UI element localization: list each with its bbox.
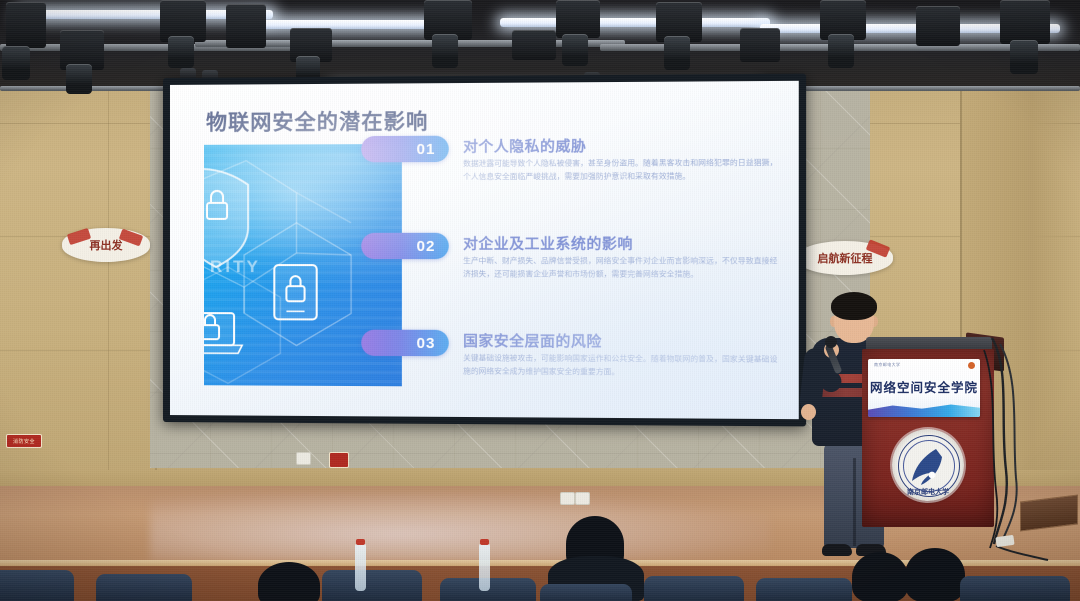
presenter-shoe bbox=[822, 544, 852, 556]
audience-seat bbox=[644, 576, 744, 601]
wall-banner-right: 启航新征程 bbox=[797, 241, 893, 275]
tablet-lock-icon bbox=[274, 265, 316, 319]
microphone-head bbox=[825, 336, 837, 348]
shield-lock-icon bbox=[204, 169, 248, 267]
audience-seat bbox=[0, 570, 74, 601]
slide-item: 03 国家安全层面的风险 关键基础设施被攻击，可能影响国家运作和公共安全。随着物… bbox=[321, 329, 795, 417]
audience-member bbox=[852, 552, 908, 601]
audience-member bbox=[905, 548, 965, 601]
wall-outlet bbox=[575, 492, 590, 505]
stage-spotlight bbox=[664, 36, 690, 70]
slide-item-body: 关键基础设施被攻击，可能影响国家运作和公共安全。随着物联网的普及，国家关键基础设… bbox=[463, 352, 779, 379]
wall-banner-left: 再出发 bbox=[62, 228, 150, 262]
lecture-hall-photo: 再出发 启航新征程 消防安全 物联网安全的潜在影响 bbox=[0, 0, 1080, 601]
slide-item-badge: 03 bbox=[361, 330, 449, 357]
slide-item: 01 对个人隐私的威胁 数据泄露可能导致个人隐私被侵害，甚至身份盗用。随着黑客攻… bbox=[321, 134, 795, 221]
wall-banner-left-text: 再出发 bbox=[90, 237, 123, 253]
stage-spotlight bbox=[6, 2, 46, 48]
water-bottle bbox=[479, 543, 490, 591]
water-bottle bbox=[355, 543, 366, 591]
audience-seat bbox=[756, 578, 852, 601]
svg-text:南京邮电大学: 南京邮电大学 bbox=[907, 487, 949, 496]
stage-spotlight bbox=[916, 6, 960, 46]
stage-spotlight bbox=[828, 34, 854, 68]
water-bottle-cap bbox=[356, 539, 365, 545]
stage-spotlight bbox=[168, 36, 194, 68]
water-bottle-cap bbox=[480, 539, 489, 545]
slide-item-heading: 对企业及工业系统的影响 bbox=[463, 233, 633, 254]
stage-spotlight bbox=[432, 34, 458, 68]
wall-outlet bbox=[560, 492, 575, 505]
slide-item-heading: 对个人隐私的威胁 bbox=[463, 135, 586, 157]
fire-safety-sign: 消防安全 bbox=[6, 434, 42, 448]
stage-spotlight bbox=[512, 30, 556, 60]
audience-seat bbox=[96, 574, 192, 601]
stage-spotlight bbox=[66, 64, 92, 94]
stage-spotlight bbox=[562, 34, 588, 66]
slide-item-body: 数据泄露可能导致个人隐私被侵害，甚至身份盗用。随着黑客攻击和网络犯罪的日益猖獗，… bbox=[463, 157, 779, 183]
ceiling-strip-light bbox=[246, 20, 436, 29]
stage-spotlight bbox=[2, 46, 30, 80]
stage-floor-reflection bbox=[150, 492, 770, 562]
audience-seat bbox=[960, 576, 1070, 601]
projection-screen: 物联网安全的潜在影响 bbox=[163, 74, 806, 427]
podium-sign-university: 南京邮电大学 bbox=[874, 362, 900, 368]
stage-spotlight bbox=[556, 0, 600, 38]
fire-safety-sign bbox=[329, 452, 349, 468]
audience-seat bbox=[540, 584, 632, 601]
audience-seat bbox=[322, 570, 422, 601]
slide-item-heading: 国家安全层面的风险 bbox=[463, 330, 602, 352]
stage-spotlight bbox=[226, 4, 266, 48]
slide-item-body: 生产中断、财产损失、品牌信誉受损，网络安全事件对企业而言影响深远，不仅导致直接经… bbox=[463, 255, 779, 281]
presenter-hand bbox=[801, 404, 816, 420]
slide-title: 物联网安全的潜在影响 bbox=[206, 105, 428, 136]
ceiling-strip-light bbox=[500, 18, 770, 27]
slide-item-badge: 02 bbox=[361, 233, 449, 259]
presenter-leg-seam bbox=[853, 458, 856, 546]
audience-member bbox=[258, 562, 320, 601]
presenter-hair bbox=[831, 292, 877, 320]
podium-cables bbox=[950, 330, 1080, 570]
slide-item-list: 01 对个人隐私的威胁 数据泄露可能导致个人隐私被侵害，甚至身份盗用。随着黑客攻… bbox=[321, 134, 795, 411]
slide-item: 02 对企业及工业系统的影响 生产中断、财产损失、品牌信誉受损，网络安全事件对企… bbox=[321, 233, 795, 319]
artwork-word: RITY bbox=[210, 257, 261, 277]
stage-spotlight bbox=[740, 28, 780, 62]
laptop-lock-icon bbox=[204, 313, 242, 353]
slide-item-badge: 01 bbox=[361, 136, 449, 163]
presentation-slide: 物联网安全的潜在影响 bbox=[170, 81, 799, 419]
wall-outlet bbox=[296, 452, 311, 465]
stage-spotlight bbox=[1010, 40, 1038, 74]
fire-safety-sign-text: 消防安全 bbox=[13, 438, 35, 445]
stage-spotlight bbox=[1000, 0, 1050, 44]
wall-banner-right-text: 启航新征程 bbox=[818, 250, 873, 266]
